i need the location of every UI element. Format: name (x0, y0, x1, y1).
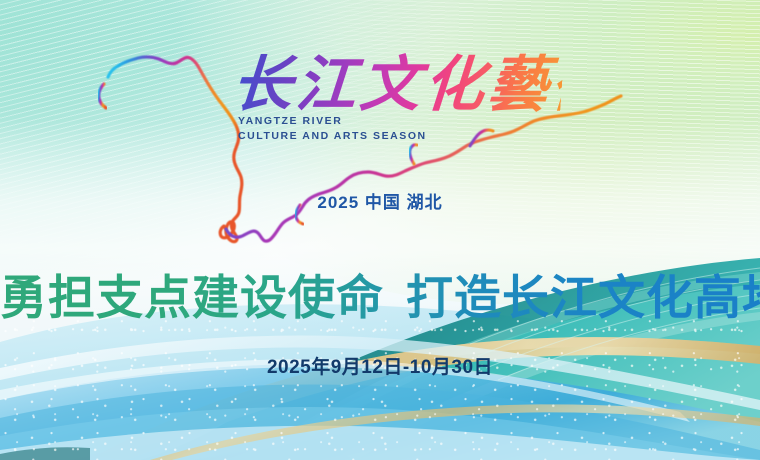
headline-part-2: 打造长江文化高地 (406, 271, 760, 324)
english-title-line-1: YANGTZE RIVER (238, 114, 427, 129)
english-title: YANGTZE RIVER CULTURE AND ARTS SEASON (238, 114, 427, 144)
main-headline: 勇担支点建设使命打造长江文化高地 (0, 268, 760, 328)
headline-part-1: 勇担支点建设使命 (0, 271, 384, 324)
calligraphy-title: 长江文化藝術季 (229, 46, 564, 124)
year-location-label: 2025 中国 湖北 (0, 188, 760, 213)
english-title-line-2: CULTURE AND ARTS SEASON (238, 129, 427, 144)
poster-canvas: 长江文化藝術季 YANGTZE RIVER CULTURE AND ARTS S… (0, 0, 760, 460)
event-dates: 2025年9月12日-10月30日 (0, 352, 760, 379)
